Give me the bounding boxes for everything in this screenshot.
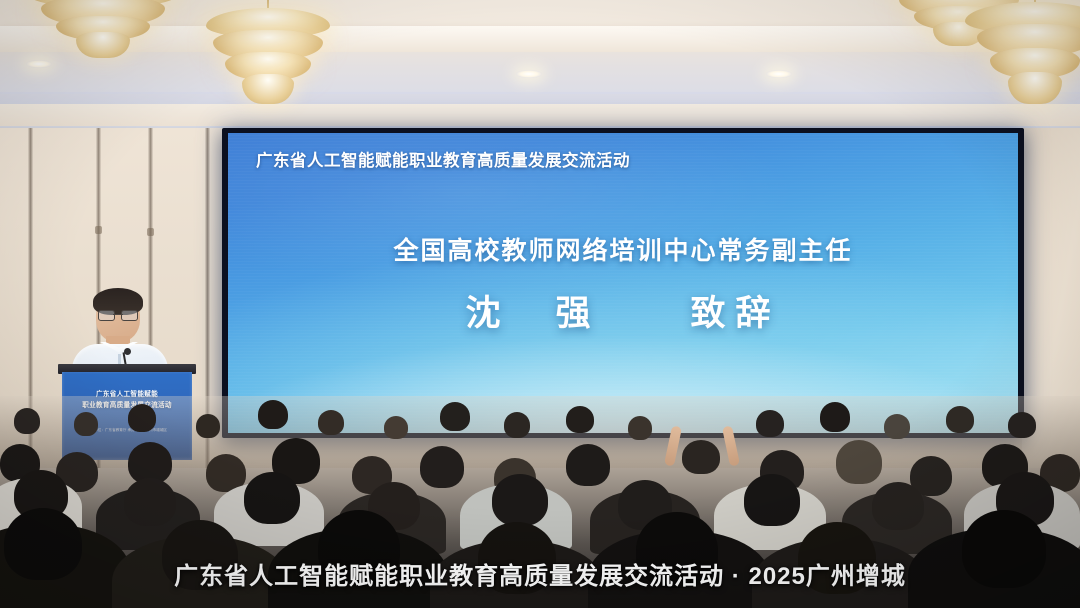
- audience-head: [566, 406, 594, 433]
- audience-head: [258, 400, 288, 429]
- audience-head: [128, 404, 156, 432]
- audience-head: [384, 416, 408, 439]
- photo-stage: 广东省人工智能赋能职业教育高质量发展交流活动 全国高校教师网络培训中心常务副主任…: [0, 0, 1080, 608]
- audience-head: [872, 482, 924, 530]
- led-screen: 广东省人工智能赋能职业教育高质量发展交流活动 全国高校教师网络培训中心常务副主任…: [228, 133, 1018, 433]
- audience-head: [74, 412, 98, 436]
- chandelier: [28, 0, 178, 76]
- bottom-caption: 广东省人工智能赋能职业教育高质量发展交流活动 · 2025广州增城: [0, 556, 1080, 591]
- microphone-head: [124, 348, 131, 355]
- chandelier: [196, 0, 340, 124]
- audience-head: [946, 406, 974, 433]
- audience-head: [196, 414, 220, 438]
- audience-head: [420, 446, 464, 488]
- audience-head: [124, 478, 176, 526]
- audience-head: [820, 402, 850, 432]
- wall-seam-cap: [147, 228, 154, 236]
- downlight: [516, 70, 542, 78]
- audience-head: [566, 444, 610, 486]
- audience-head: [884, 414, 910, 439]
- audience-head: [1008, 412, 1036, 438]
- audience-head: [836, 440, 882, 484]
- audience-head: [744, 474, 800, 526]
- audience-head: [14, 408, 40, 434]
- audience-head: [504, 412, 530, 438]
- screen-title-text: 全国高校教师网络培训中心常务副主任: [228, 231, 1018, 267]
- wall-seam-cap: [95, 226, 102, 234]
- screen-header-text: 广东省人工智能赋能职业教育高质量发展交流活动: [256, 147, 630, 171]
- audience-head: [492, 474, 548, 526]
- audience-head: [628, 416, 652, 440]
- audience-head: [244, 472, 300, 524]
- audience-head: [440, 402, 470, 431]
- screen-scanlines: [228, 133, 1018, 433]
- audience-head: [682, 440, 720, 474]
- screen-speaker-name-text: 沈 强 致辞: [228, 285, 1018, 336]
- speaker-glasses: [98, 310, 138, 319]
- audience-head: [756, 410, 784, 437]
- downlight: [766, 70, 792, 78]
- chandelier: [960, 0, 1080, 126]
- audience-head: [318, 410, 344, 435]
